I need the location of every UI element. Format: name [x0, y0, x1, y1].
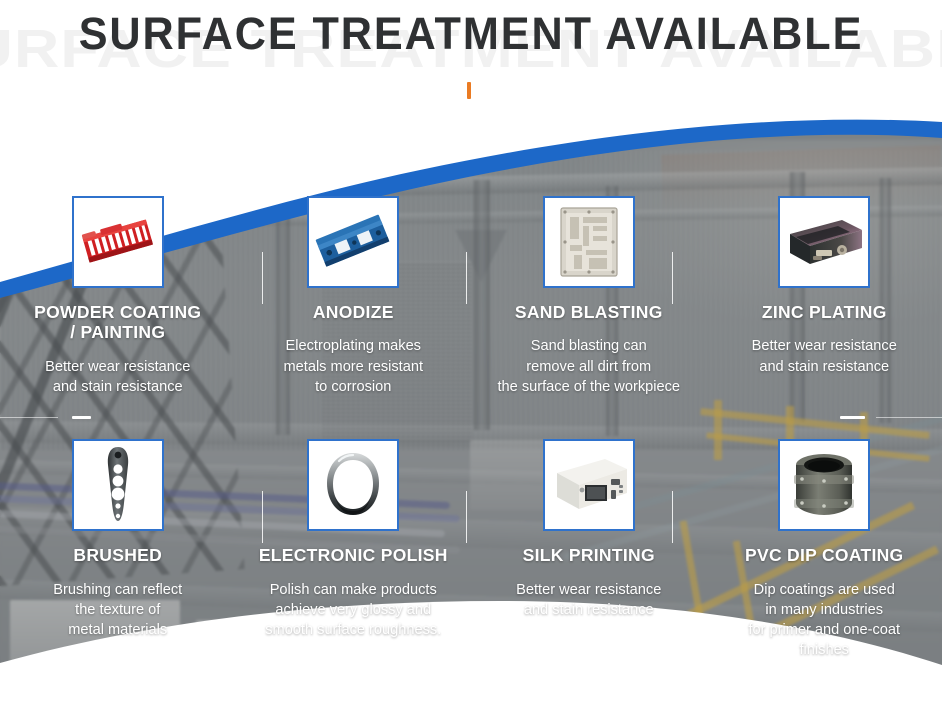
pvc-dip-coated-sleeve-icon [780, 441, 868, 529]
card-thumbnail [307, 196, 399, 288]
card-electronic-polish[interactable]: ELECTRONIC POLISH Polish can make produc… [236, 439, 472, 660]
treatment-row-1: POWDER COATING / PAINTING Better wear re… [0, 196, 942, 397]
card-title: SILK PRINTING [523, 545, 655, 565]
treatment-card-grid: POWDER COATING / PAINTING Better wear re… [0, 196, 942, 660]
row-divider-dash-right [840, 416, 865, 419]
card-zinc-plating[interactable]: ZINC PLATING Better wear resistance and … [707, 196, 942, 397]
title-accent-bar [467, 82, 471, 99]
card-divider [672, 252, 673, 304]
card-title: ANODIZE [313, 302, 394, 322]
row-divider-line-left [0, 417, 58, 418]
card-thumbnail [778, 196, 870, 288]
page-title: SURFACE TREATMENT AVAILABLE [19, 8, 923, 60]
card-divider [466, 491, 467, 543]
card-description: Better wear resistance and stain resista… [752, 336, 897, 376]
row-divider-line-right [876, 417, 942, 418]
card-title: BRUSHED [73, 545, 162, 565]
card-thumbnail [778, 439, 870, 531]
card-description: Better wear resistance and stain resista… [516, 580, 661, 620]
card-title: POWDER COATING / PAINTING [34, 302, 201, 343]
row-divider-dash-left [72, 416, 91, 419]
card-description: Polish can make products achieve very gl… [265, 580, 441, 640]
card-title: SAND BLASTING [515, 302, 663, 322]
red-powder-coated-grate-icon [74, 198, 162, 286]
brushed-metal-lever-icon [74, 441, 162, 529]
card-silk-printing[interactable]: SILK PRINTING Better wear resistance and… [471, 439, 707, 660]
treatment-row-2: BRUSHED Brushing can reflect the texture… [0, 439, 942, 660]
sandblasted-machined-plate-icon [545, 198, 633, 286]
card-thumbnail [543, 439, 635, 531]
zinc-plated-enclosure-icon [780, 198, 868, 286]
card-divider [262, 491, 263, 543]
card-description: Electroplating makes metals more resista… [284, 336, 424, 396]
card-divider [466, 252, 467, 304]
card-title: ELECTRONIC POLISH [259, 545, 448, 565]
card-description: Sand blasting can remove all dirt from t… [497, 336, 680, 396]
card-thumbnail [307, 439, 399, 531]
card-title: ZINC PLATING [762, 302, 887, 322]
page-header: SURFACE TREATMENT AVAILABLE SURFACE TREA… [0, 0, 942, 112]
card-description: Brushing can reflect the texture of meta… [53, 580, 182, 640]
card-divider [262, 252, 263, 304]
card-thumbnail [72, 439, 164, 531]
surface-treatment-infographic: SURFACE TREATMENT AVAILABLE SURFACE TREA… [0, 0, 942, 715]
polished-metal-ring-icon [309, 441, 397, 529]
card-thumbnail [72, 196, 164, 288]
card-thumbnail [543, 196, 635, 288]
card-description: Better wear resistance and stain resista… [45, 357, 190, 397]
card-pvc-dip-coating[interactable]: PVC DIP COATING Dip coatings are used in… [707, 439, 942, 660]
card-powder-coating[interactable]: POWDER COATING / PAINTING Better wear re… [0, 196, 236, 397]
silk-printed-chassis-icon [545, 441, 633, 529]
card-divider [672, 491, 673, 543]
card-description: Dip coatings are used in many industries… [748, 580, 900, 661]
card-title: PVC DIP COATING [745, 545, 903, 565]
blue-anodized-plate-icon [309, 198, 397, 286]
card-anodize[interactable]: ANODIZE Electroplating makes metals more… [236, 196, 472, 397]
card-brushed[interactable]: BRUSHED Brushing can reflect the texture… [0, 439, 236, 660]
